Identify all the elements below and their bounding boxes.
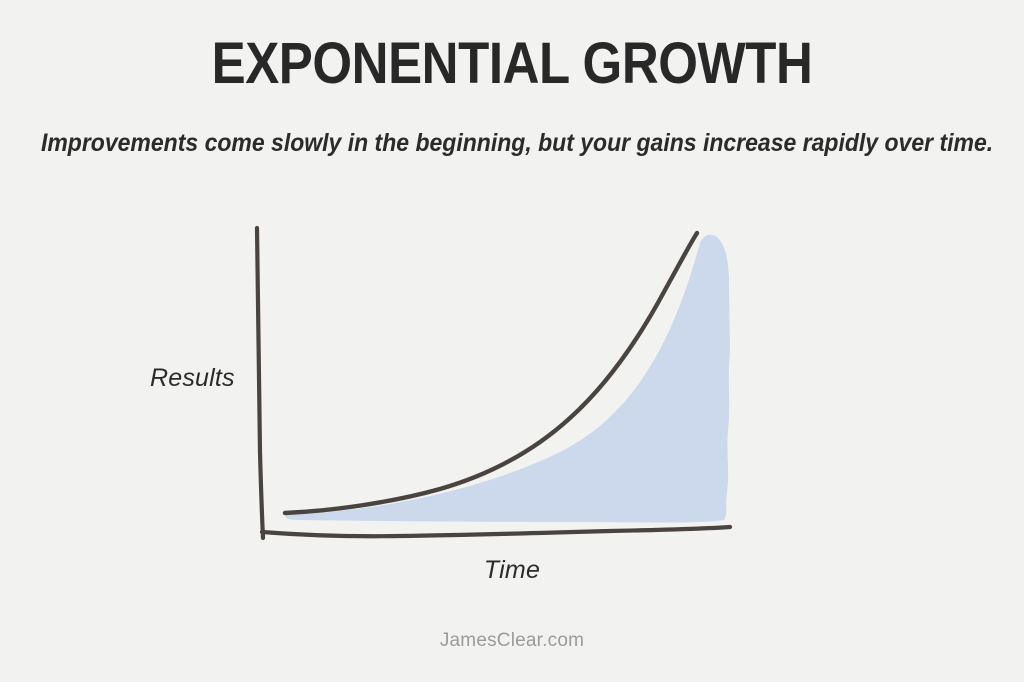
exponential-growth-chart: Results Time <box>0 0 1024 682</box>
x-axis-line <box>262 527 730 536</box>
y-axis-line <box>257 228 263 538</box>
footer-attribution: JamesClear.com <box>0 630 1024 652</box>
y-axis-label: Results <box>150 364 235 393</box>
poster-canvas: EXPONENTIAL GROWTH Improvements come slo… <box>0 0 1024 682</box>
area-fill-shape <box>286 235 730 523</box>
x-axis-label: Time <box>0 556 1024 585</box>
